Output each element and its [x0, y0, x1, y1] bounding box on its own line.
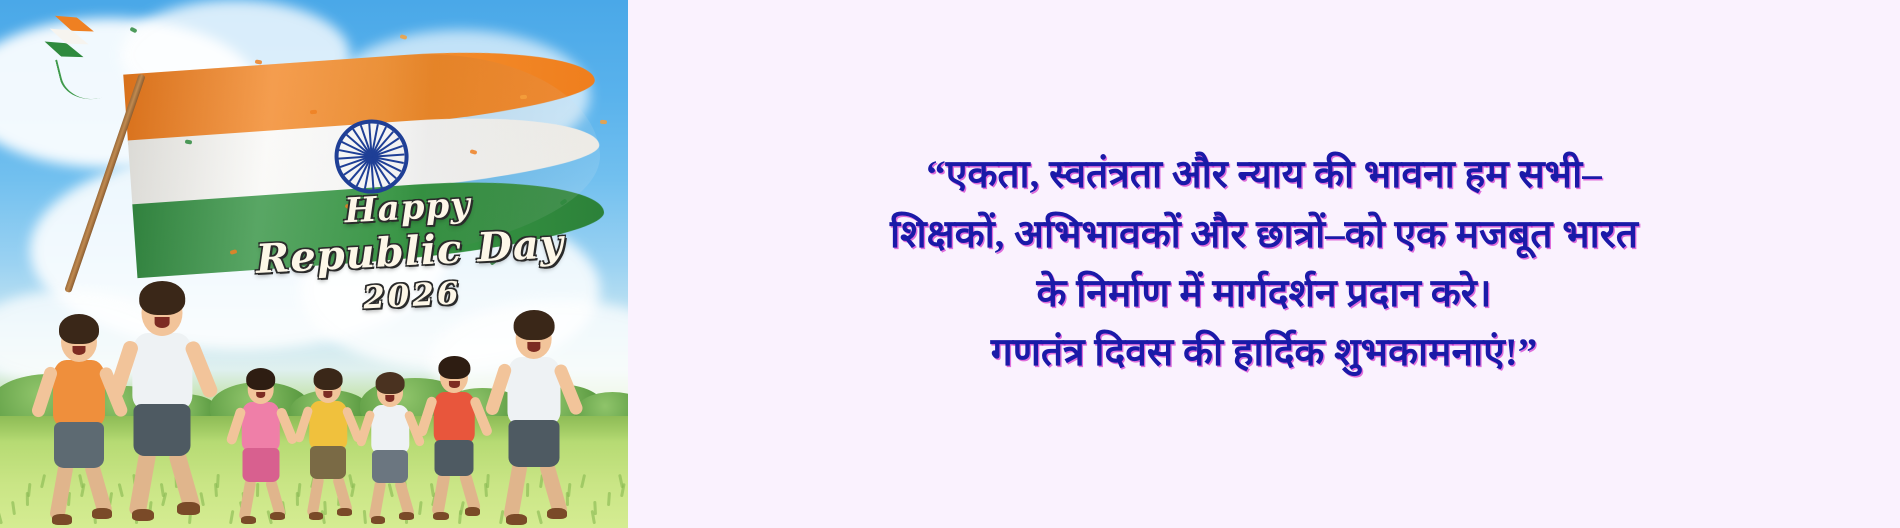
child-shoe-right [399, 512, 413, 520]
child-leg-left [128, 449, 156, 517]
quote-line-4: गणतंत्र दिवस की हार्दिक शुभकामनाएं!” [674, 323, 1854, 382]
child-shirt [371, 405, 408, 453]
child-shirt [507, 357, 560, 424]
child-shoe-right [465, 507, 481, 516]
running-children-group [0, 228, 628, 528]
running-child [362, 371, 418, 522]
running-child [40, 312, 118, 522]
child-shoe-left [309, 512, 323, 520]
child-shoe-left [241, 516, 256, 524]
child-shirt [434, 392, 475, 443]
child-shoe-left [52, 514, 72, 525]
child-shoe-right [92, 508, 112, 519]
child-hair [513, 310, 554, 341]
child-mouth [256, 392, 266, 399]
quote-panel: “एकता, स्वतंत्रता और न्याय की भावना हम स… [628, 0, 1900, 528]
child-leg-left [49, 461, 74, 521]
child-shorts [435, 440, 474, 476]
child-shirt [133, 333, 192, 408]
child-shirt [309, 401, 346, 449]
child-shorts [372, 450, 408, 483]
child-leg-left [503, 460, 528, 521]
running-child [300, 367, 356, 518]
child-shoe-right [337, 508, 351, 516]
quote-line-3: के निर्माण में मार्गदर्शन प्रदान करे। [674, 264, 1854, 323]
child-hair [314, 368, 343, 390]
confetti-fleck [310, 110, 317, 115]
child-shorts [242, 448, 279, 482]
child-leg-left [307, 474, 325, 517]
child-shorts [310, 446, 346, 479]
child-shorts [54, 422, 104, 468]
child-hair [376, 372, 405, 394]
child-hair [140, 281, 186, 315]
running-child [494, 308, 574, 522]
child-leg-left [431, 471, 450, 518]
running-child [232, 367, 290, 522]
child-shoe-right [270, 512, 285, 520]
quote-line-1: “एकता, स्वतंत्रता और न्याय की भावना हम स… [674, 145, 1854, 204]
confetti-fleck [520, 95, 527, 100]
illustration-panel: Happy Republic Day 2026 [0, 0, 628, 528]
quote-line-2: शिक्षकों, अभिभावकों और छात्रों–को एक मजब… [674, 205, 1854, 264]
child-leg-left [369, 478, 387, 521]
child-hair [59, 314, 99, 344]
child-shoe-right [547, 508, 567, 519]
child-shoe-right [177, 502, 200, 515]
running-child [424, 354, 485, 518]
republic-day-greeting-card: Happy Republic Day 2026 “एकता, स्वतंत्रत… [0, 0, 1900, 528]
child-shoe-left [371, 516, 385, 524]
child-hair [439, 356, 470, 379]
child-hair [246, 368, 276, 390]
child-leg-left [239, 477, 257, 521]
child-shorts [508, 420, 559, 467]
child-shoe-left [132, 509, 155, 522]
child-shirt [242, 402, 280, 451]
confetti-fleck [600, 120, 607, 125]
child-shoe-left [506, 514, 526, 525]
running-child [118, 279, 207, 518]
child-shoe-left [433, 512, 449, 521]
child-mouth [73, 346, 86, 355]
child-shirt [53, 360, 105, 426]
hindi-quote: “एकता, स्वतंत्रता और न्याय की भावना हम स… [674, 145, 1854, 382]
child-shorts [134, 404, 191, 456]
